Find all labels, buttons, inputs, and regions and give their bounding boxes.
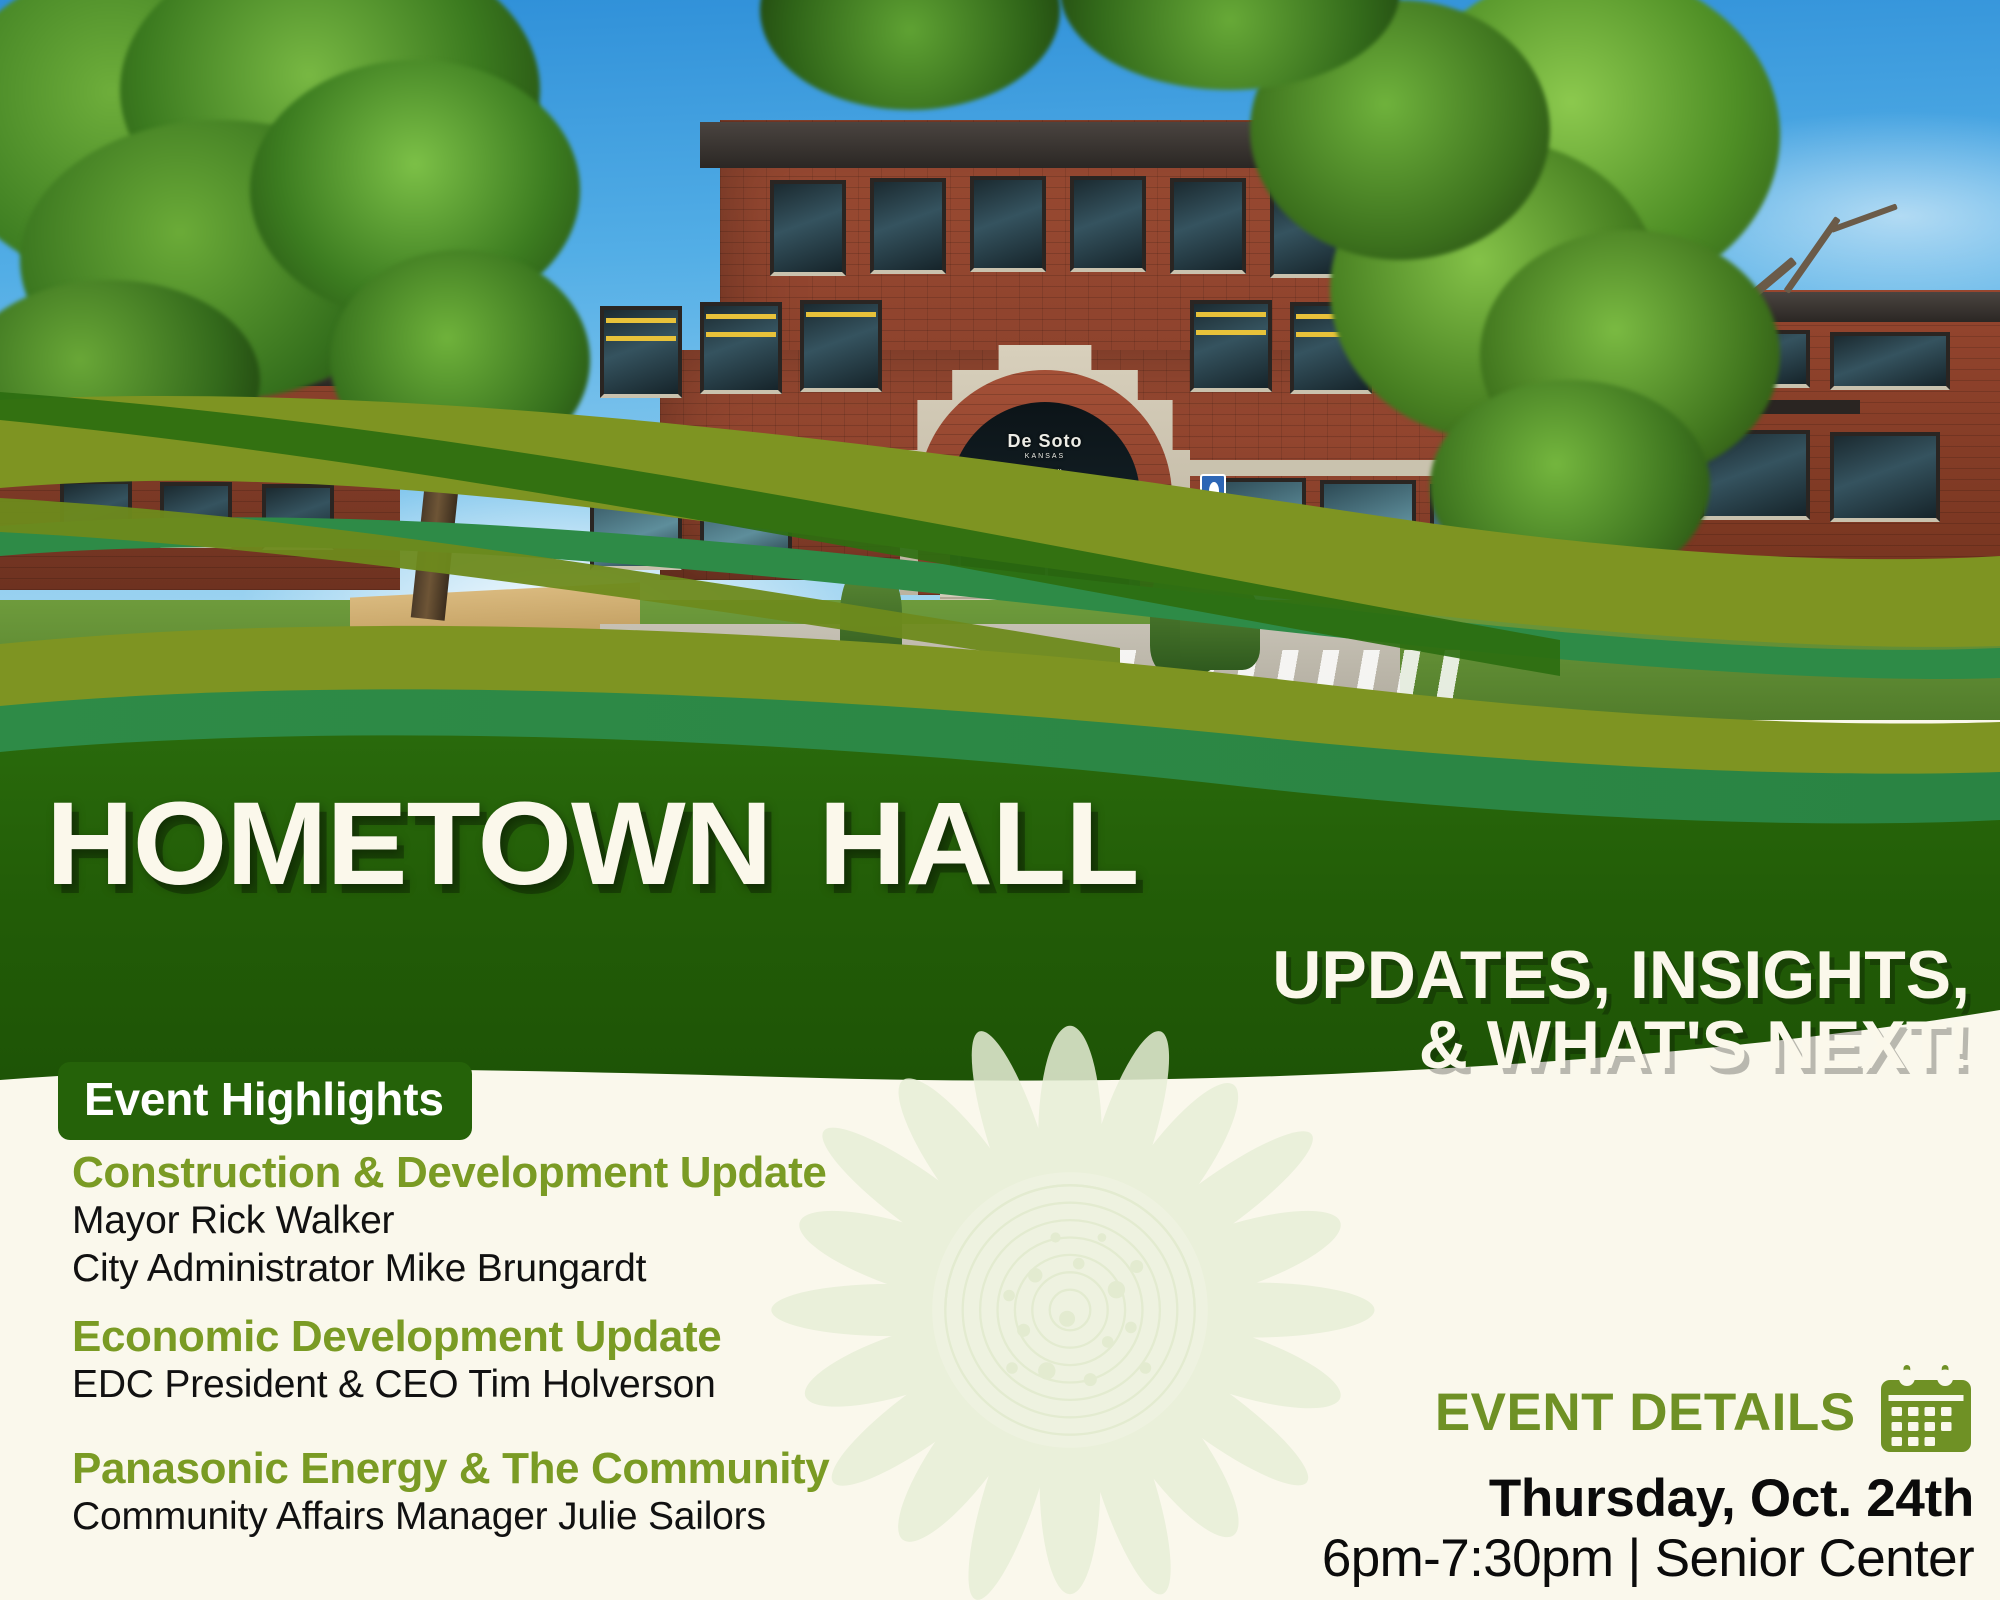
building-sign-state: KANSAS [965,453,1125,462]
event-details: EVENT DETAILS [1322,1362,1974,1590]
highlight-topic: Construction & Development Update [72,1148,826,1197]
building-sign-line2: 32905 W. 84th Street [965,478,1125,489]
event-date: Thursday, Oct. 24th [1322,1469,1974,1529]
flyer-poster: ArtsCenterENTRANCE [0,0,2000,1600]
window [590,480,682,570]
entry-doors [958,502,1132,598]
window [970,176,1046,272]
calendar-icon [1878,1362,1974,1463]
window-shade [1196,312,1266,317]
shrub [1180,575,1260,670]
highlight-speaker: City Administrator Mike Brungardt [72,1245,826,1293]
window [1830,432,1940,522]
subtitle-line-2: & WHAT'S NEXT! [1030,1010,1970,1080]
event-details-header-row: EVENT DETAILS [1322,1362,1974,1463]
arts-center-sign: ArtsCenterENTRANCE [300,418,356,444]
building-sign: De Soto KANSAS City Hall 32905 W. 84th S… [965,430,1125,490]
building-sign-name: De Soto [965,430,1125,453]
window [1320,480,1416,572]
highlight-topic: Economic Development Update [72,1312,721,1361]
building-sign-line1: City Hall [965,467,1125,478]
window [770,180,846,276]
highlight-speaker: Mayor Rick Walker [72,1197,826,1245]
accessible-parking-sign [1200,512,1226,544]
event-highlights-label: Event Highlights [58,1062,472,1140]
window [1170,178,1246,274]
window-shade [606,336,676,341]
event-details-label: EVENT DETAILS [1435,1386,1856,1439]
event-time-location: 6pm-7:30pm | Senior Center [1322,1529,1974,1589]
window [1830,332,1950,390]
highlight-item-2: Economic Development Update EDC Presiden… [72,1312,721,1409]
shrub [840,560,902,670]
window [262,484,334,550]
highlight-speaker: EDC President & CEO Tim Holverson [72,1361,721,1409]
window-shade [706,314,776,319]
window-shade [706,332,776,337]
subtitle-line-1: UPDATES, INSIGHTS, [1030,940,1970,1010]
window [160,482,232,548]
window [60,480,132,546]
hero-photo: ArtsCenterENTRANCE [0,0,2000,720]
accessible-parking-sign [760,478,786,510]
highlight-speaker: Community Affairs Manager Julie Sailors [72,1493,829,1541]
page-subtitle: UPDATES, INSIGHTS, & WHAT'S NEXT! [1030,940,1970,1080]
window-shade [606,318,676,323]
window [870,178,946,274]
accessible-parking-sign [1200,474,1226,506]
highlight-topic: Panasonic Energy & The Community [72,1444,829,1493]
highlight-item-3: Panasonic Energy & The Community Communi… [72,1444,829,1541]
window-shade [1196,330,1266,335]
page-title: Hometown Hall [46,742,1138,910]
highlight-item-1: Construction & Development Update Mayor … [72,1148,826,1292]
window [1070,176,1146,272]
window-shade [806,312,876,317]
